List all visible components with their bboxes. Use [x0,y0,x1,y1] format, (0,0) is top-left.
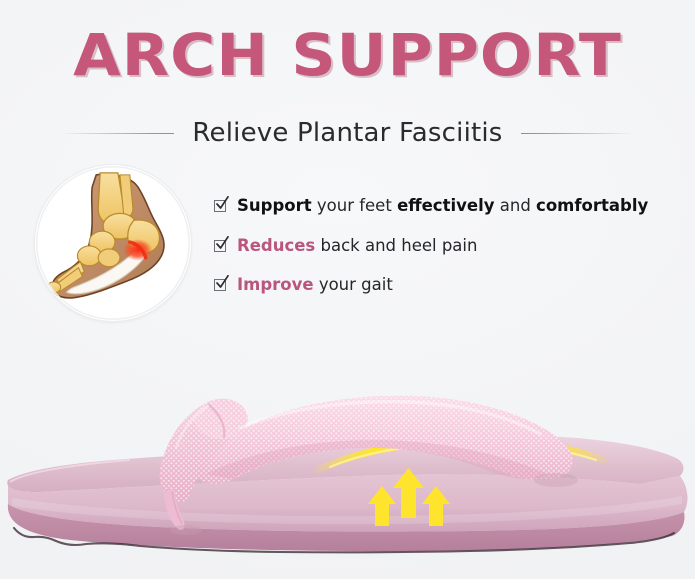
checkbox-checked-icon [214,238,228,253]
bullet-part: Support [237,196,312,215]
foot-anatomy-illustration [34,164,192,322]
bullet-part: Reduces [237,236,315,255]
list-item: Improve your gait [214,275,684,296]
product-marketing-image: ARCH SUPPORT Relieve Plantar Fasciitis [0,0,695,579]
subtitle-row: Relieve Plantar Fasciitis [0,118,695,148]
list-item: Support your feet effectively and comfor… [214,196,684,217]
bullet-part: and [500,196,531,215]
bullet-part: comfortably [536,196,648,215]
divider-right [521,133,635,134]
list-item-label: Support your feet effectively and comfor… [237,196,648,217]
list-item-label: Reduces back and heel pain [237,236,477,257]
list-item: Reduces back and heel pain [214,236,684,257]
list-item-label: Improve your gait [237,275,393,296]
benefits-list: Support your feet effectively and comfor… [214,196,684,296]
product-image-flip-flop [0,352,695,579]
page-title: ARCH SUPPORT [0,26,695,84]
bullet-part: effectively [397,196,494,215]
bullet-part: your gait [319,275,393,294]
bullet-part: Improve [237,275,314,294]
bullet-part: your feet [317,196,392,215]
subtitle: Relieve Plantar Fasciitis [192,118,502,148]
divider-left [60,133,174,134]
bullet-part: back and heel pain [321,236,478,255]
checkbox-checked-icon [214,198,228,213]
checkbox-checked-icon [214,277,228,292]
